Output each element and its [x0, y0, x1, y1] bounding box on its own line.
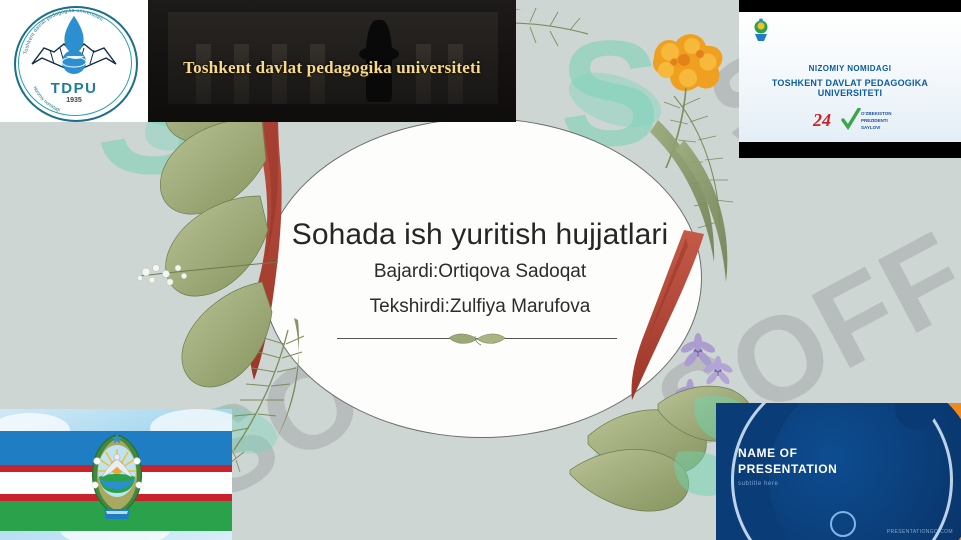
- badge-line-2: PREZIDENTI: [861, 118, 892, 125]
- photo-caption: Toshkent davlat pedagogika universiteti: [148, 58, 516, 78]
- ppt-watermark: PRESENTATIONGO.COM: [887, 529, 953, 535]
- ppt-title-line-2: PRESENTATION: [738, 461, 837, 477]
- badge-line-1: O'ZBEKISTON: [861, 111, 892, 118]
- badge-line-3: SAYLOVI: [861, 125, 892, 132]
- ppt-title-line-1: NAME OF: [738, 445, 837, 461]
- leaf-ornament-icon: [445, 332, 509, 351]
- title-block: Sohada ish yuritish hujjatlari Bajardi:O…: [250, 218, 710, 321]
- uzbekistan-emblem-icon: [84, 427, 150, 523]
- thumbnail-university-photo[interactable]: Toshkent davlat pedagogika universiteti: [148, 0, 516, 122]
- ppt-title: NAME OF PRESENTATION: [738, 445, 837, 477]
- banner-emblem-icon: [751, 18, 771, 42]
- author-line: Bajardi:Ortiqova Sadoqat: [250, 259, 710, 286]
- ppt-subtitle: subtitle here: [738, 481, 779, 487]
- slide-canvas: S S SOFF SOFF SOFF: [0, 0, 961, 540]
- banner-line-1: NIZOMIY NOMIDAGI: [739, 64, 961, 73]
- election-badge: 24 O'ZBEKISTON PREZIDENTI SAYLOVI: [813, 108, 893, 134]
- supervisor-line: Tekshirdi:Zulfiya Marufova: [250, 294, 710, 321]
- badge-number: 24: [813, 110, 831, 131]
- badge-text: O'ZBEKISTON PREZIDENTI SAYLOVI: [861, 111, 892, 131]
- tdpu-seal-icon: Toshkent davlat pedagogika universiteti …: [6, 2, 142, 120]
- ppt-ring: [830, 511, 856, 537]
- page-title: Sohada ish yuritish hujjatlari: [250, 218, 710, 251]
- tdpu-year: 1935: [6, 97, 142, 104]
- banner-line-2: TOSHKENT DAVLAT PEDAGOGIKA UNIVERSITETI: [739, 78, 961, 98]
- title-divider: [337, 337, 617, 340]
- tdpu-acronym: TDPU: [6, 80, 142, 97]
- thumbnail-tdpu-logo[interactable]: Toshkent davlat pedagogika universiteti …: [0, 0, 148, 122]
- thumbnail-uzbekistan-flag[interactable]: [0, 409, 232, 540]
- check-mark-icon: [841, 108, 861, 130]
- thumbnail-university-banner[interactable]: NIZOMIY NOMIDAGI TOSHKENT DAVLAT PEDAGOG…: [739, 0, 961, 158]
- thumbnail-presentation-template[interactable]: NAME OF PRESENTATION subtitle here PRESE…: [716, 403, 961, 540]
